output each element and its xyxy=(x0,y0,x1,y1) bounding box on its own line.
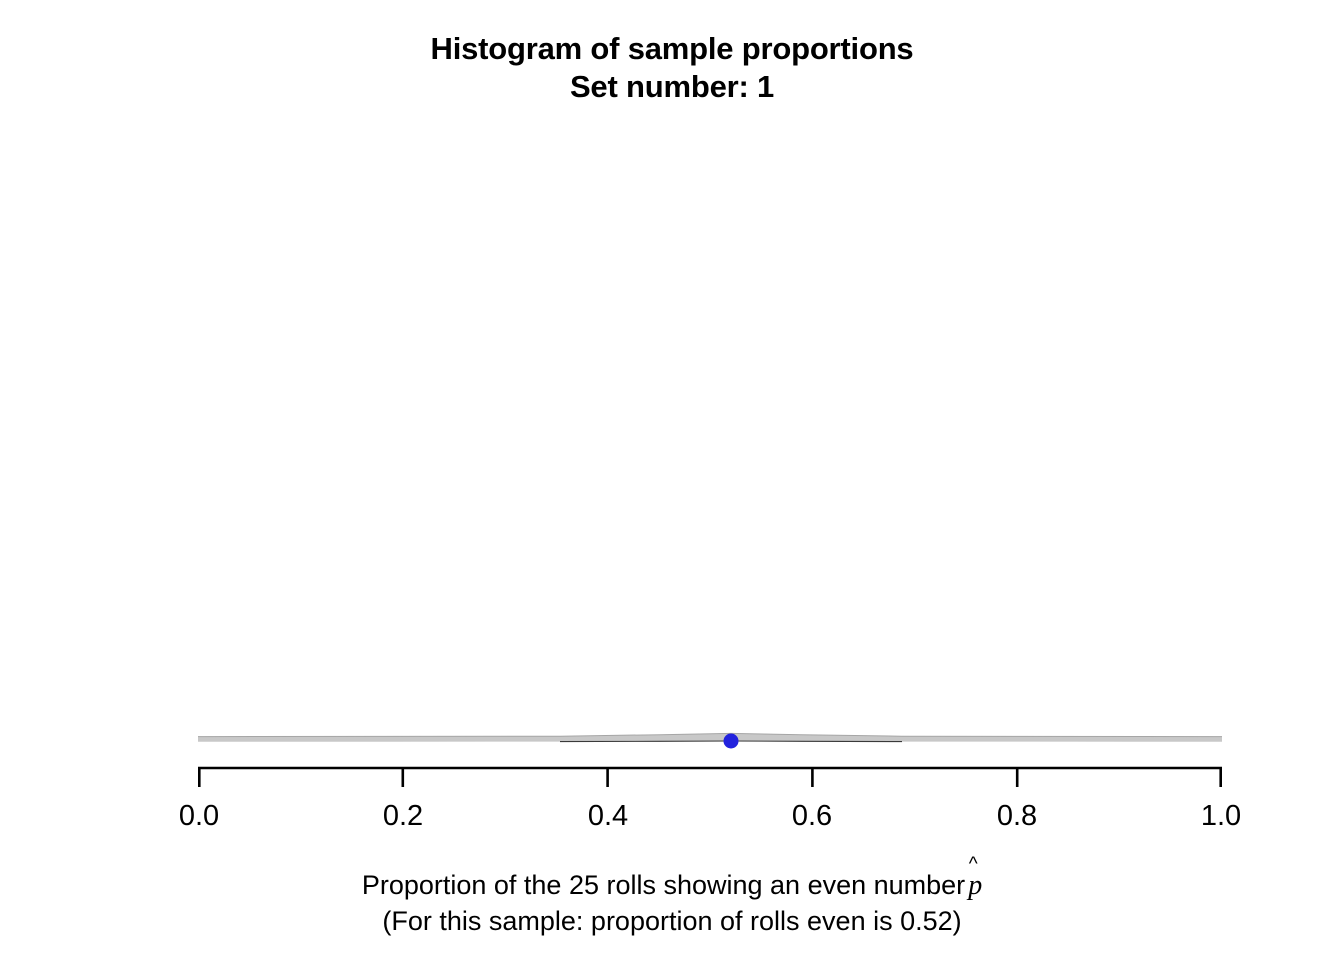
histogram-bar-envelope xyxy=(198,733,1222,742)
x-axis-caption-sub: (For this sample: proportion of rolls ev… xyxy=(0,904,1344,939)
observed-proportion-point xyxy=(724,734,739,749)
x-tick-label-5: 1.0 xyxy=(1201,800,1241,833)
x-tick-label-3: 0.6 xyxy=(792,800,832,833)
x-tick-label-1: 0.2 xyxy=(383,800,423,833)
x-tick-label-4: 0.8 xyxy=(997,800,1037,833)
x-axis xyxy=(198,768,1222,787)
x-axis-caption-main: Proportion of the 25 rolls showing an ev… xyxy=(0,868,1344,904)
p-hat-accent: ^ xyxy=(969,855,978,874)
x-axis-caption-main-text: Proportion of the 25 rolls showing an ev… xyxy=(362,870,965,900)
x-axis-caption: Proportion of the 25 rolls showing an ev… xyxy=(0,868,1344,938)
chart-canvas: Histogram of sample proportions Set numb… xyxy=(0,0,1344,960)
x-tick-label-0: 0.0 xyxy=(179,800,219,833)
p-hat-symbol: ^p xyxy=(965,868,982,904)
x-tick-label-2: 0.4 xyxy=(588,800,628,833)
histogram-band xyxy=(198,733,1222,742)
